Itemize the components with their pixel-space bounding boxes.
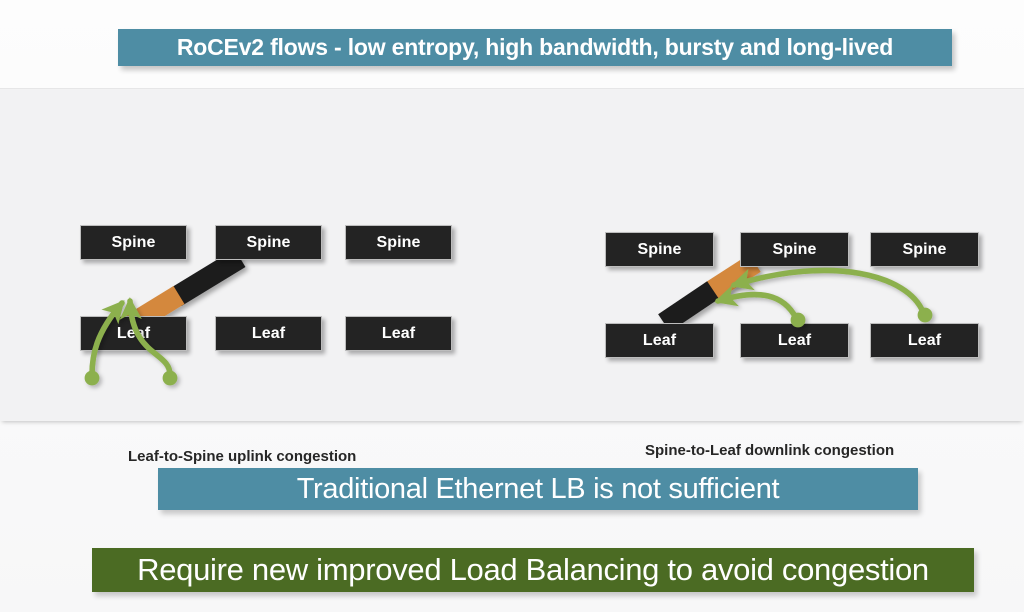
node-label: Leaf: [778, 332, 811, 350]
caption-text: Spine-to-Leaf downlink congestion: [645, 442, 894, 459]
fabric-spine-to-leaf: Spine Spine Spine Leaf Leaf Leaf: [512, 89, 1024, 421]
congested-link-right: [664, 263, 755, 323]
diagram-panel: Spine Spine Spine Leaf Leaf Leaf: [0, 88, 1024, 421]
node-leaf-3[interactable]: Leaf: [345, 316, 452, 351]
node-leaf-2[interactable]: Leaf: [215, 316, 322, 351]
node-leaf-2[interactable]: Leaf: [740, 323, 849, 358]
link-segment-congested: [710, 263, 755, 292]
caption-spine-to-leaf: Spine-to-Leaf downlink congestion: [645, 442, 894, 459]
node-label: Leaf: [382, 325, 415, 343]
node-label: Leaf: [908, 332, 941, 350]
caption-text: Leaf-to-Spine uplink congestion: [128, 448, 356, 465]
caption-leaf-to-spine: Leaf-to-Spine uplink congestion: [128, 448, 356, 465]
node-label: Spine: [111, 234, 155, 252]
node-spine-3[interactable]: Spine: [345, 225, 452, 260]
node-spine-1[interactable]: Spine: [605, 232, 714, 267]
statement-text: Traditional Ethernet LB is not sufficien…: [297, 473, 780, 506]
node-spine-3[interactable]: Spine: [870, 232, 979, 267]
node-label: Leaf: [252, 325, 285, 343]
title-banner-text: RoCEv2 flows - low entropy, high bandwid…: [177, 34, 893, 61]
node-leaf-1[interactable]: Leaf: [80, 316, 187, 351]
statement-text: Require new improved Load Balancing to a…: [137, 552, 929, 588]
node-label: Spine: [902, 241, 946, 259]
statement-banner-require-new-lb: Require new improved Load Balancing to a…: [92, 548, 974, 592]
node-leaf-1[interactable]: Leaf: [605, 323, 714, 358]
node-label: Leaf: [643, 332, 676, 350]
node-leaf-3[interactable]: Leaf: [870, 323, 979, 358]
slide-root: RoCEv2 flows - low entropy, high bandwid…: [0, 0, 1024, 612]
title-banner: RoCEv2 flows - low entropy, high bandwid…: [118, 29, 952, 66]
node-label: Spine: [376, 234, 420, 252]
node-label: Spine: [246, 234, 290, 252]
node-spine-2[interactable]: Spine: [215, 225, 322, 260]
node-label: Spine: [772, 241, 816, 259]
node-label: Leaf: [117, 325, 150, 343]
node-label: Spine: [637, 241, 681, 259]
node-spine-1[interactable]: Spine: [80, 225, 187, 260]
node-spine-2[interactable]: Spine: [740, 232, 849, 267]
link-segment-normal: [664, 290, 713, 323]
fabric-leaf-to-spine: Spine Spine Spine Leaf Leaf Leaf: [0, 89, 512, 421]
statement-banner-traditional-lb: Traditional Ethernet LB is not sufficien…: [158, 468, 918, 510]
link-segment-normal: [176, 258, 240, 297]
